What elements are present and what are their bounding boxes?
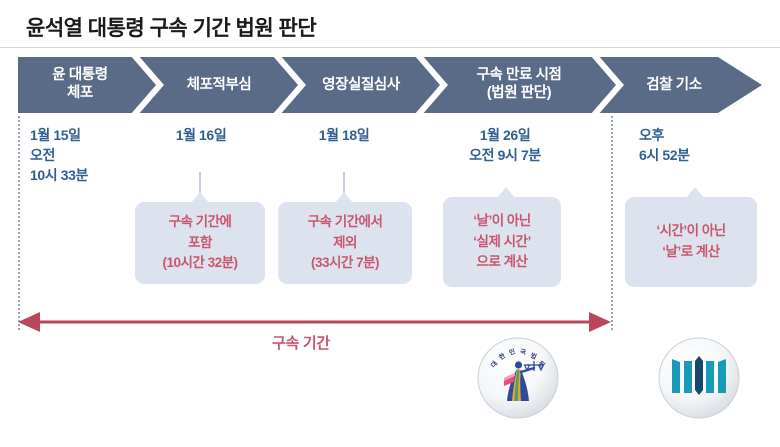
callout-indictment: ‘시간’이 아닌 ‘날’로 계산 (625, 197, 757, 287)
datestamp-arrest: 1월 15일 오전 10시 33분 (30, 126, 88, 186)
datestamp-warrant-hearing: 1월 18일 (288, 126, 400, 146)
court-emblem-logo: 대 한 민 국 법 원 (477, 337, 559, 419)
datestamp-arrest-review: 1월 16일 (145, 126, 257, 146)
prosecution-emblem-logo (658, 337, 740, 419)
stage-banner-shape (18, 57, 762, 113)
svg-text:국: 국 (520, 348, 526, 356)
infographic-root: 윤석열 대통령 구속 기간 법원 판단 윤 대통령 체포 체포적부심 영장실질심… (0, 0, 780, 447)
stage-banner: 윤 대통령 체포 체포적부심 영장실질심사 구속 만료 시점 (법원 판단) 검… (18, 57, 762, 113)
guide-line-right (611, 116, 613, 330)
callout-warrant-hearing: 구속 기간에서 제외 (33시간 7분) (278, 202, 412, 284)
duration-arrow-head-right (589, 312, 611, 332)
datestamp-detention-expiry: 1월 26일 오전 9시 7분 (430, 126, 580, 166)
callout-detention-expiry: ‘날’이 아닌 ‘실제 시간’ 으로 계산 (443, 197, 561, 287)
title-divider (0, 47, 780, 48)
duration-label: 구속 기간 (272, 332, 330, 353)
page-title: 윤석열 대통령 구속 기간 법원 판단 (26, 12, 316, 42)
duration-arrow-head-left (18, 312, 40, 332)
court-emblem-icon: 대 한 민 국 법 원 (477, 337, 559, 419)
datestamp-indictment: 오후 6시 52분 (639, 126, 690, 166)
callout-arrest-review: 구속 기간에 포함 (10시간 32분) (135, 202, 265, 284)
banner-body (18, 57, 762, 113)
prosecution-emblem-icon (658, 337, 740, 419)
guide-line-left (18, 116, 20, 330)
